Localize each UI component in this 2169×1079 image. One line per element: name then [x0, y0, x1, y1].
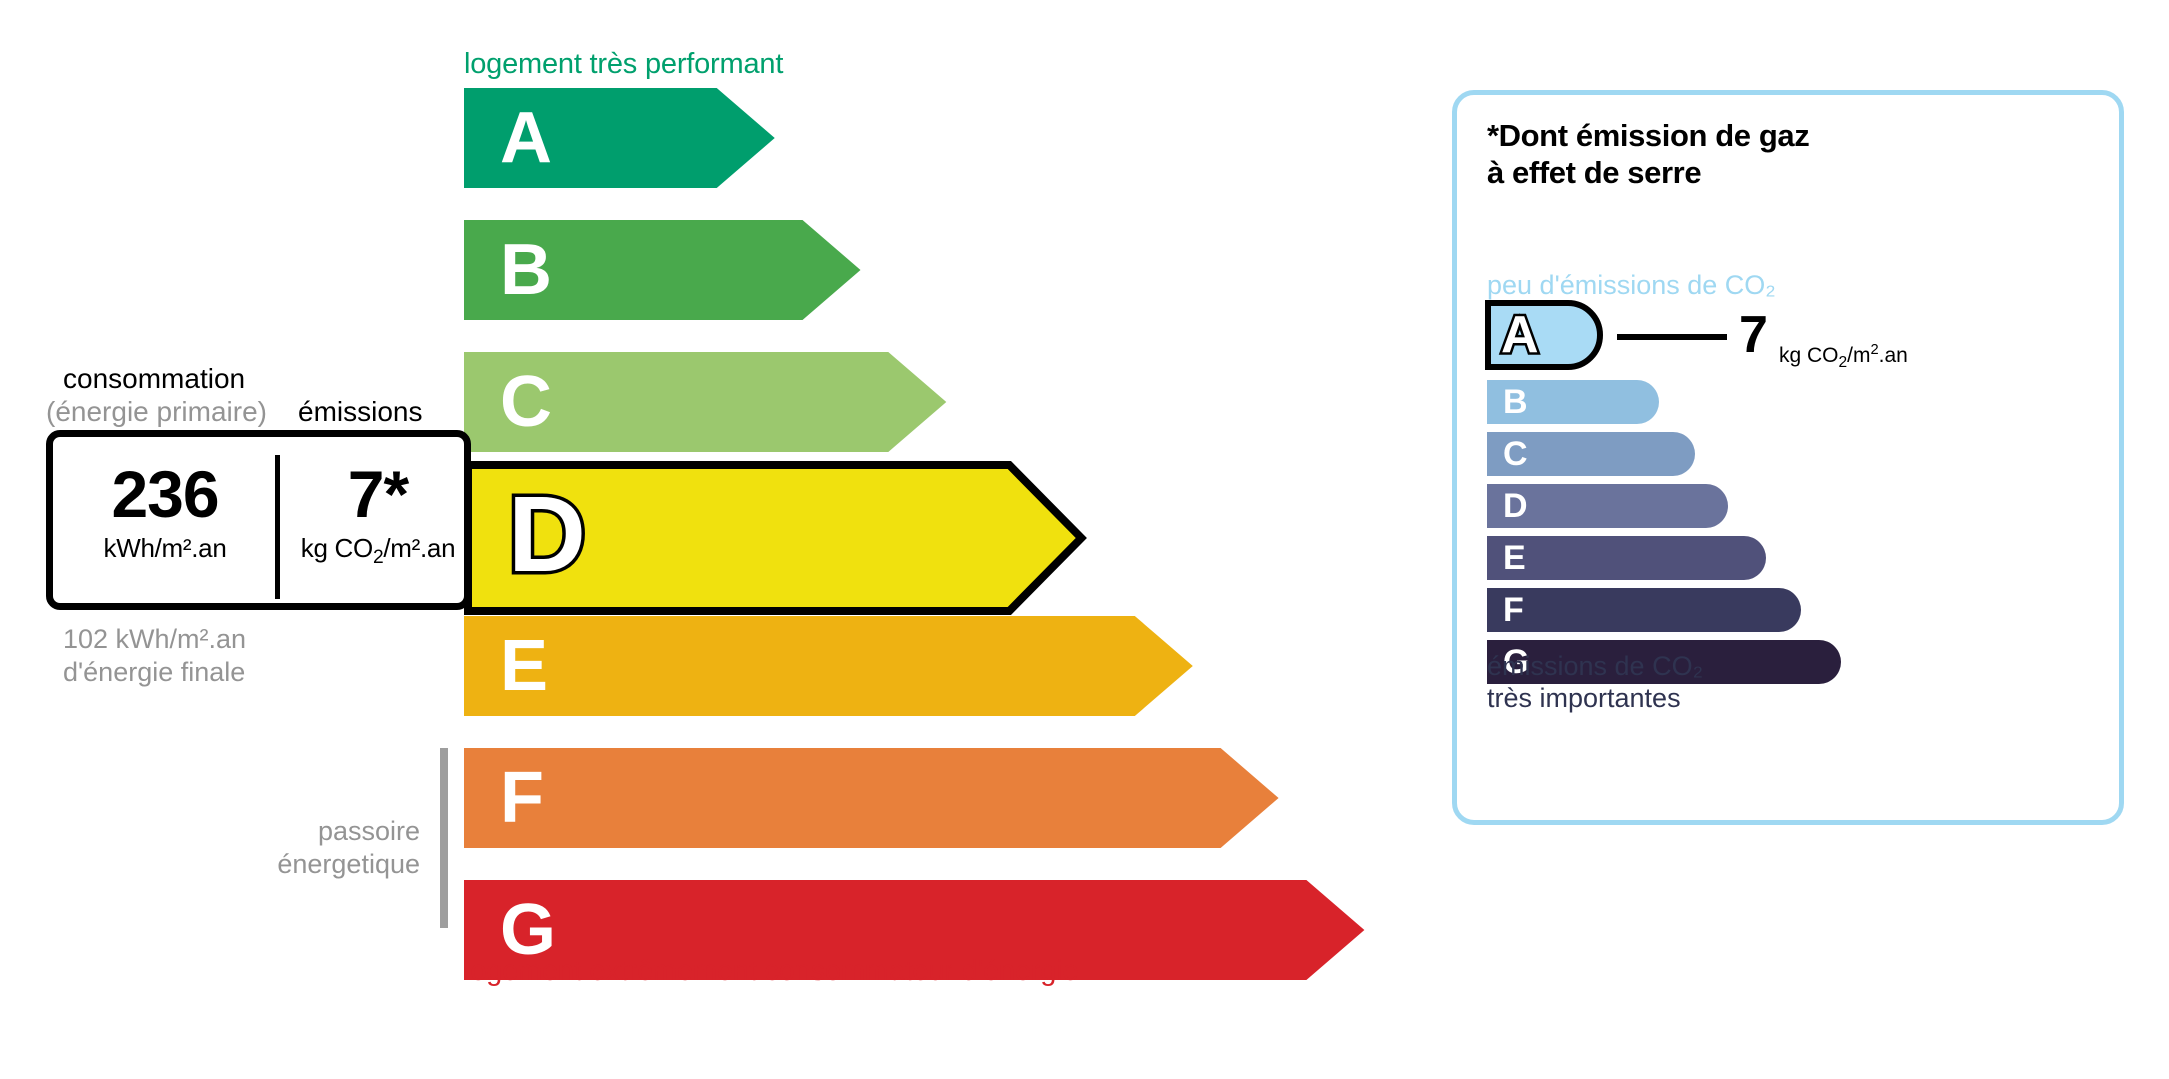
passoire-label: passoire énergetique	[120, 815, 420, 881]
energy-band-letter-e: E	[500, 630, 548, 702]
ghg-bar-f: F	[1487, 588, 1801, 632]
ghg-bar-b: B	[1487, 380, 1659, 424]
emission-value: 7*	[284, 455, 472, 533]
emissions-label: émissions	[298, 396, 422, 428]
ghg-bar-d: D	[1487, 484, 1728, 528]
energy-band-a: A	[464, 88, 775, 188]
consumption-unit: kWh/m².an	[59, 533, 271, 563]
energy-band-f: F	[464, 748, 1279, 848]
ghg-panel: *Dont émission de gaz à effet de serre p…	[1452, 90, 2124, 825]
ghg-bar-letter-c: C	[1503, 437, 1528, 471]
energy-band-letter-c: C	[500, 366, 552, 438]
ghg-title-line2: à effet de serre	[1487, 154, 1809, 191]
ghg-bar-c: C	[1487, 432, 1695, 476]
final-energy-line1: 102 kWh/m².an	[63, 623, 246, 656]
ghg-title: *Dont émission de gaz à effet de serre	[1487, 117, 1809, 191]
energy-band-d: D	[464, 461, 1085, 607]
ghg-bottom-line2: très importantes	[1487, 682, 1703, 714]
emission-cell: 7* kg CO2/m².an	[284, 455, 472, 599]
ghg-top-caption: peu d'émissions de CO₂	[1487, 270, 1776, 301]
ghg-leader-line	[1617, 334, 1727, 340]
energy-band-e: E	[464, 616, 1193, 716]
energy-band-letter-f: F	[500, 762, 544, 834]
consumption-value: 236	[59, 455, 271, 533]
energy-band-letter-d: D	[508, 480, 586, 588]
ghg-badge-a: A	[1485, 300, 1603, 370]
emission-unit: kg CO2/m².an	[284, 533, 472, 573]
ghg-bottom-line1: émissions de CO₂	[1487, 650, 1703, 682]
value-box-divider	[275, 455, 280, 599]
ghg-value: 7	[1739, 300, 1768, 370]
ghg-bar-e: E	[1487, 536, 1766, 580]
passoire-line1: passoire	[120, 815, 420, 848]
consumption-cell: 236 kWh/m².an	[59, 455, 271, 599]
passoire-marker-bar	[440, 748, 448, 928]
final-energy-note: 102 kWh/m².an d'énergie finale	[63, 623, 246, 689]
ghg-badge-letter: A	[1501, 309, 1539, 361]
ghg-bar-letter-e: E	[1503, 541, 1526, 575]
ghg-bar-letter-d: D	[1503, 489, 1528, 523]
energy-band-letter-b: B	[500, 234, 552, 306]
ghg-bar-letter-b: B	[1503, 385, 1528, 419]
value-box: 236 kWh/m².an 7* kg CO2/m².an	[46, 430, 471, 610]
ghg-value-unit: kg CO2/m2.an	[1779, 338, 1908, 375]
passoire-line2: énergetique	[120, 848, 420, 881]
energy-bottom-caption: logement extrêmement consommateur d'éner…	[464, 955, 1078, 988]
consumption-sublabel: (énergie primaire)	[46, 396, 267, 428]
consumption-label: consommation	[63, 363, 245, 395]
ghg-bar-letter-f: F	[1503, 593, 1524, 627]
energy-top-caption: logement très performant	[464, 48, 783, 81]
energy-band-c: C	[464, 352, 946, 452]
final-energy-line2: d'énergie finale	[63, 656, 246, 689]
ghg-title-line1: *Dont émission de gaz	[1487, 117, 1809, 154]
ghg-bottom-caption: émissions de CO₂ très importantes	[1487, 650, 1703, 714]
energy-band-letter-a: A	[500, 102, 552, 174]
dpe-diagram: logement très performant ABCDEFG consomm…	[0, 0, 2169, 1079]
energy-band-b: B	[464, 220, 861, 320]
energy-scale-panel: logement très performant ABCDEFG consomm…	[0, 0, 1400, 1079]
